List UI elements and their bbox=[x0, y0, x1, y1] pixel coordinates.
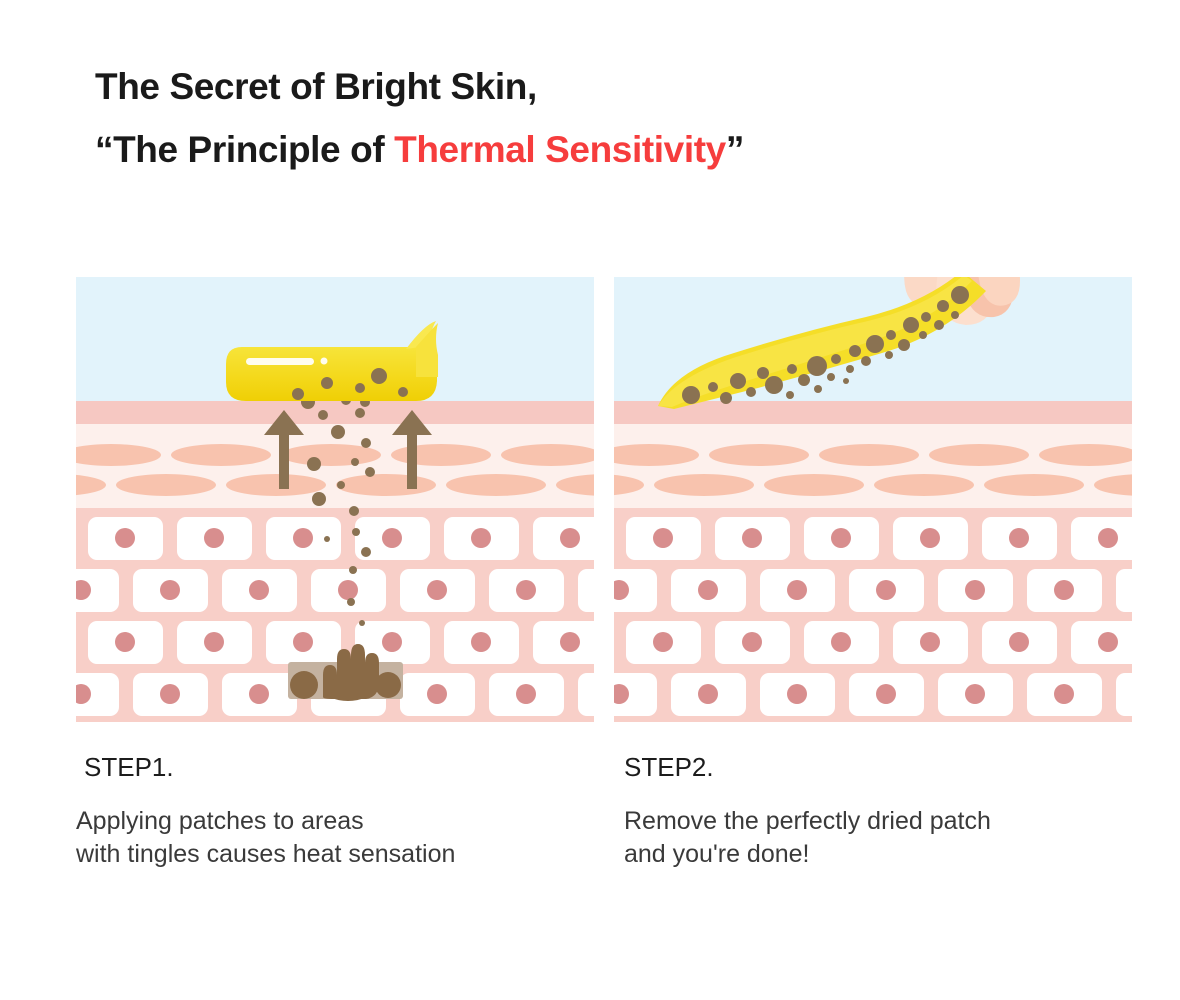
step2-desc-line1: Remove the perfectly dried patch bbox=[624, 805, 1124, 838]
headline-suffix: ” bbox=[726, 129, 744, 170]
step1-caption: STEP1. Applying patches to areas with ti… bbox=[76, 752, 576, 872]
headline-line-2: “The Principle of Thermal Sensitivity” bbox=[95, 131, 1095, 168]
step2-desc-line2: and you're done! bbox=[624, 838, 1124, 871]
step1-desc-line1: Applying patches to areas bbox=[76, 805, 576, 838]
headline-accent: Thermal Sensitivity bbox=[394, 129, 726, 170]
step1-desc-line2: with tingles causes heat sensation bbox=[76, 838, 576, 871]
step2-caption: STEP2. Remove the perfectly dried patch … bbox=[624, 752, 1124, 872]
step2-label: STEP2. bbox=[624, 752, 1124, 783]
headline-line-1: The Secret of Bright Skin, bbox=[95, 68, 1095, 105]
headline-prefix: “The Principle of bbox=[95, 129, 394, 170]
illustration-step1 bbox=[76, 277, 594, 722]
step1-label: STEP1. bbox=[76, 752, 576, 783]
illustration-panels bbox=[76, 277, 1132, 722]
page-title: The Secret of Bright Skin, “The Principl… bbox=[95, 68, 1095, 168]
illustration-step2 bbox=[614, 277, 1132, 722]
